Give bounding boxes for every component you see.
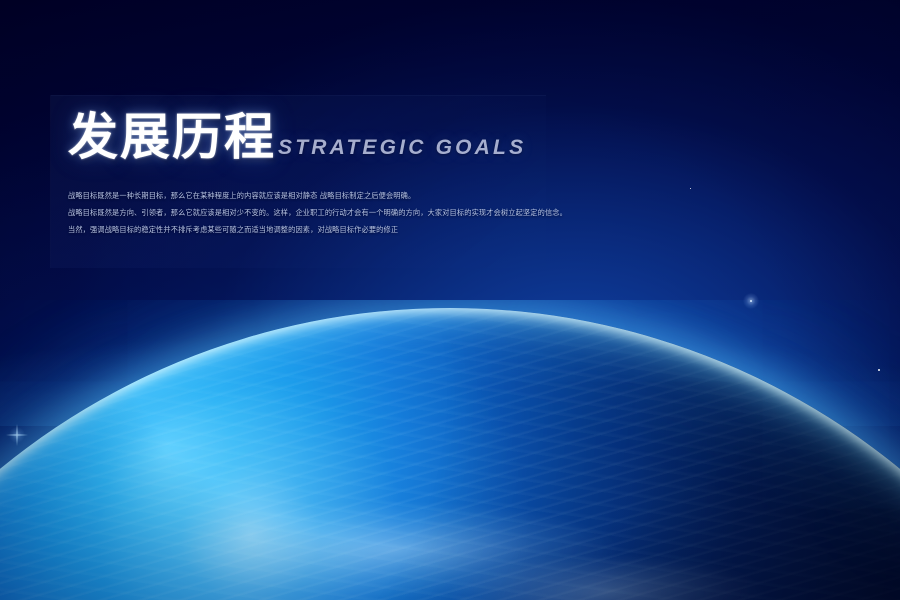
page-title-chinese: 发展历程: [68, 112, 276, 162]
body-copy-line: 战略目标既然是一种长期目标，那么它在某种程度上的内容就应该是相对静态 战略目标制…: [68, 190, 538, 201]
page-title: 发展历程 STRATEGIC GOALS: [68, 112, 526, 162]
body-copy-line: 当然，强调战略目标的稳定性并不排斥考虑某些可随之而适当地调整的因素，对战略目标作…: [68, 224, 538, 235]
space-background: [0, 0, 900, 600]
body-copy-line: 战略目标既然是方向、引领者，那么它就应该是相对少不变的。这样，企业职工的行动才会…: [68, 207, 538, 218]
body-copy: 战略目标既然是一种长期目标，那么它在某种程度上的内容就应该是相对静态 战略目标制…: [68, 190, 538, 235]
strategic-goals-hero-banner: 发展历程 STRATEGIC GOALS 战略目标既然是一种长期目标，那么它在某…: [0, 0, 900, 600]
page-subtitle-english: STRATEGIC GOALS: [278, 137, 526, 162]
